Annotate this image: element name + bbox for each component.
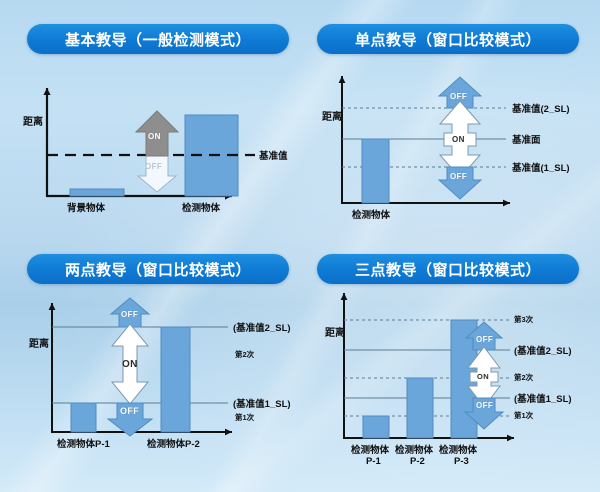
on-arrow-label: ON — [122, 359, 138, 370]
y-axis-arrowhead — [339, 76, 346, 83]
panel-three-point-teach: 三点教导（窗口比较模式） 距离 OFF ON OFF 第3次 (基准值2_SL) — [300, 246, 600, 492]
bar-detect-object-p1 — [363, 416, 389, 438]
category-label-p2: 检测物体P-2 — [147, 436, 200, 450]
y-axis-arrowhead — [341, 293, 348, 300]
category-sublabel-p3: P-3 — [454, 456, 469, 467]
reference-label-1sl: 基准值(1_SL) — [512, 160, 570, 174]
note-label-second: 第2次 — [235, 349, 254, 360]
y-axis-label: 距离 — [23, 117, 35, 128]
chart-two-point-teach — [0, 246, 300, 492]
note-label-second: 第2次 — [514, 372, 533, 383]
x-axis-arrowhead — [225, 429, 232, 436]
on-arrow-label: ON — [477, 372, 489, 381]
off-arrow-bottom-label: OFF — [120, 406, 139, 416]
off-arrow-bottom-label: OFF — [476, 401, 493, 410]
note-label-first: 第1次 — [514, 410, 533, 421]
y-axis-arrowhead — [49, 303, 56, 310]
reference-label-2sl: (基准值2_SL) — [514, 343, 572, 357]
bar-background-object — [70, 189, 124, 196]
category-sublabel-p1: P-1 — [366, 456, 381, 467]
off-arrow-top-label: OFF — [121, 310, 138, 319]
off-arrow-top-label: OFF — [450, 92, 467, 101]
off-arrow-label: OFF — [145, 162, 162, 171]
on-arrow-label: ON — [452, 135, 465, 144]
reference-label-2sl: (基准值2_SL) — [233, 320, 291, 334]
panel-basic-teach: 基本教导（一般检测模式） 距离 ON OFF 基准值 背景物体 检测物体 — [0, 0, 300, 246]
category-label-detect-object: 检测物体 — [352, 207, 390, 221]
diagram-canvas: 基本教导（一般检测模式） 距离 ON OFF 基准值 背景物体 检测物体 单点教… — [0, 0, 600, 492]
category-sublabel-p2: P-2 — [410, 456, 425, 467]
off-arrow-bottom-label: OFF — [450, 172, 467, 181]
category-label-p2: 检测物体 — [395, 442, 433, 456]
category-label-p3: 检测物体 — [439, 442, 477, 456]
chart-basic-teach — [0, 0, 300, 246]
category-label-p1: 检测物体P-1 — [57, 436, 110, 450]
x-axis-arrowhead — [503, 200, 510, 207]
off-arrow-top-label: OFF — [476, 335, 493, 344]
reference-label-1sl: (基准值1_SL) — [514, 391, 572, 405]
category-label-background-object: 背景物体 — [67, 200, 105, 214]
reference-label-basic: 基准值 — [259, 148, 288, 162]
panel-two-point-teach: 两点教导（窗口比较模式） 距离 OFF ON OFF (基准值2_SL) 第2次… — [0, 246, 300, 492]
bar-detect-object-p2 — [407, 378, 433, 438]
bar-detect-object — [362, 139, 389, 203]
y-axis-arrowhead — [43, 88, 50, 95]
reference-label-plane: 基准面 — [512, 132, 541, 146]
note-label-first: 第1次 — [235, 412, 254, 423]
y-axis-label: 距离 — [322, 112, 334, 123]
panel-one-point-teach: 单点教导（窗口比较模式） 距离 OFF ON OFF 基准值(2_SL) 基准面… — [300, 0, 600, 246]
y-axis-label: 距离 — [29, 339, 41, 350]
category-label-detect-object: 检测物体 — [182, 200, 220, 214]
off-arrow-down — [138, 155, 176, 192]
on-arrow-label: ON — [148, 132, 161, 141]
note-label-third: 第3次 — [514, 314, 533, 325]
category-label-p1: 检测物体 — [351, 442, 389, 456]
x-axis-arrowhead — [507, 435, 514, 442]
reference-label-2sl: 基准值(2_SL) — [512, 101, 570, 115]
y-axis-label: 距离 — [325, 328, 337, 339]
chart-one-point-teach — [300, 0, 600, 246]
bar-detect-object-p2 — [161, 327, 190, 432]
reference-label-1sl: (基准值1_SL) — [233, 396, 291, 410]
bar-detect-object-p1 — [71, 403, 96, 432]
